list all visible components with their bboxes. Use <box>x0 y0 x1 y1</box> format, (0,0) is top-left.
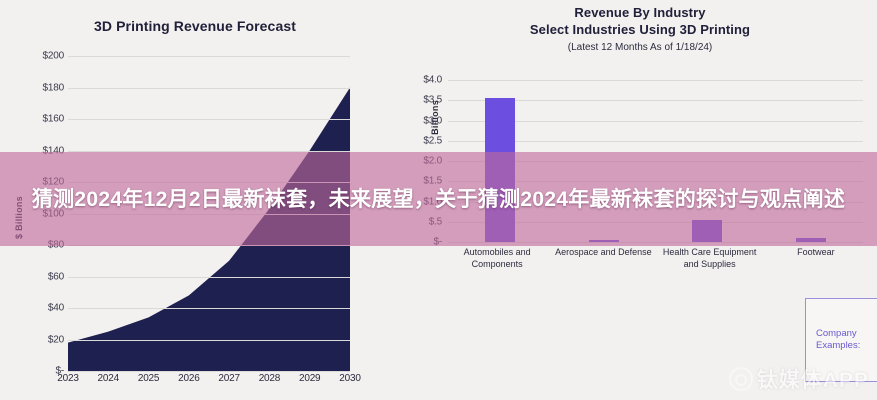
x-tick-label: 2025 <box>138 373 159 384</box>
x-tick-label: 2024 <box>98 373 119 384</box>
watermark: 钛媒体APP <box>729 364 869 394</box>
category-label: Aerospace and Defense <box>550 246 656 304</box>
y-tick-label: $160 <box>43 114 64 125</box>
category-label: Health Care Equipment and Supplies <box>657 246 763 304</box>
gridline <box>68 56 350 57</box>
left-chart-x-axis: 20232024202520262027202820292030 <box>68 373 350 389</box>
y-tick-label: $20 <box>48 334 64 345</box>
right-chart-title-line2: Select Industries Using 3D Printing <box>410 21 870 38</box>
weibo-icon <box>729 367 753 391</box>
gridline <box>68 119 350 120</box>
right-chart-title: Revenue By Industry Select Industries Us… <box>410 4 870 38</box>
gridline <box>68 340 350 341</box>
gridline <box>68 88 350 89</box>
y-tick-label: $2.5 <box>423 135 442 146</box>
x-tick-label: 2030 <box>339 373 360 384</box>
y-tick-label: $3.0 <box>423 115 442 126</box>
left-chart-title: 3D Printing Revenue Forecast <box>0 18 390 34</box>
x-tick-label: 2029 <box>299 373 320 384</box>
gridline <box>68 308 350 309</box>
category-label: Automobiles and Components <box>444 246 550 304</box>
gridline <box>68 277 350 278</box>
y-tick-label: $60 <box>48 271 64 282</box>
x-tick-label: 2027 <box>218 373 239 384</box>
x-tick-label: 2026 <box>178 373 199 384</box>
y-tick-label: $180 <box>43 82 64 93</box>
headline-text: 猜测2024年12月2日最新袜套，未来展望，关于猜测2024年最新袜套的探讨与观… <box>29 183 849 216</box>
right-chart-category-labels: Automobiles and ComponentsAerospace and … <box>444 246 869 304</box>
x-tick-label: 2023 <box>57 373 78 384</box>
right-chart-title-line1: Revenue By Industry <box>410 4 870 21</box>
y-tick-label: $4.0 <box>423 75 442 86</box>
headline-overlay-band: 猜测2024年12月2日最新袜套，未来展望，关于猜测2024年最新袜套的探讨与观… <box>0 152 877 246</box>
watermark-label: 钛媒体APP <box>757 364 869 394</box>
right-chart-subtitle: (Latest 12 Months As of 1/18/24) <box>410 42 870 53</box>
y-tick-label: $3.5 <box>423 95 442 106</box>
gridline <box>448 80 863 81</box>
gridline <box>68 371 350 372</box>
category-label: Footwear <box>763 246 869 304</box>
company-examples-label: Company Examples: <box>806 328 877 352</box>
x-tick-label: 2028 <box>259 373 280 384</box>
infographic-canvas: 3D Printing Revenue Forecast $ Billions … <box>0 0 877 400</box>
y-tick-label: $40 <box>48 303 64 314</box>
y-tick-label: $200 <box>43 51 64 62</box>
